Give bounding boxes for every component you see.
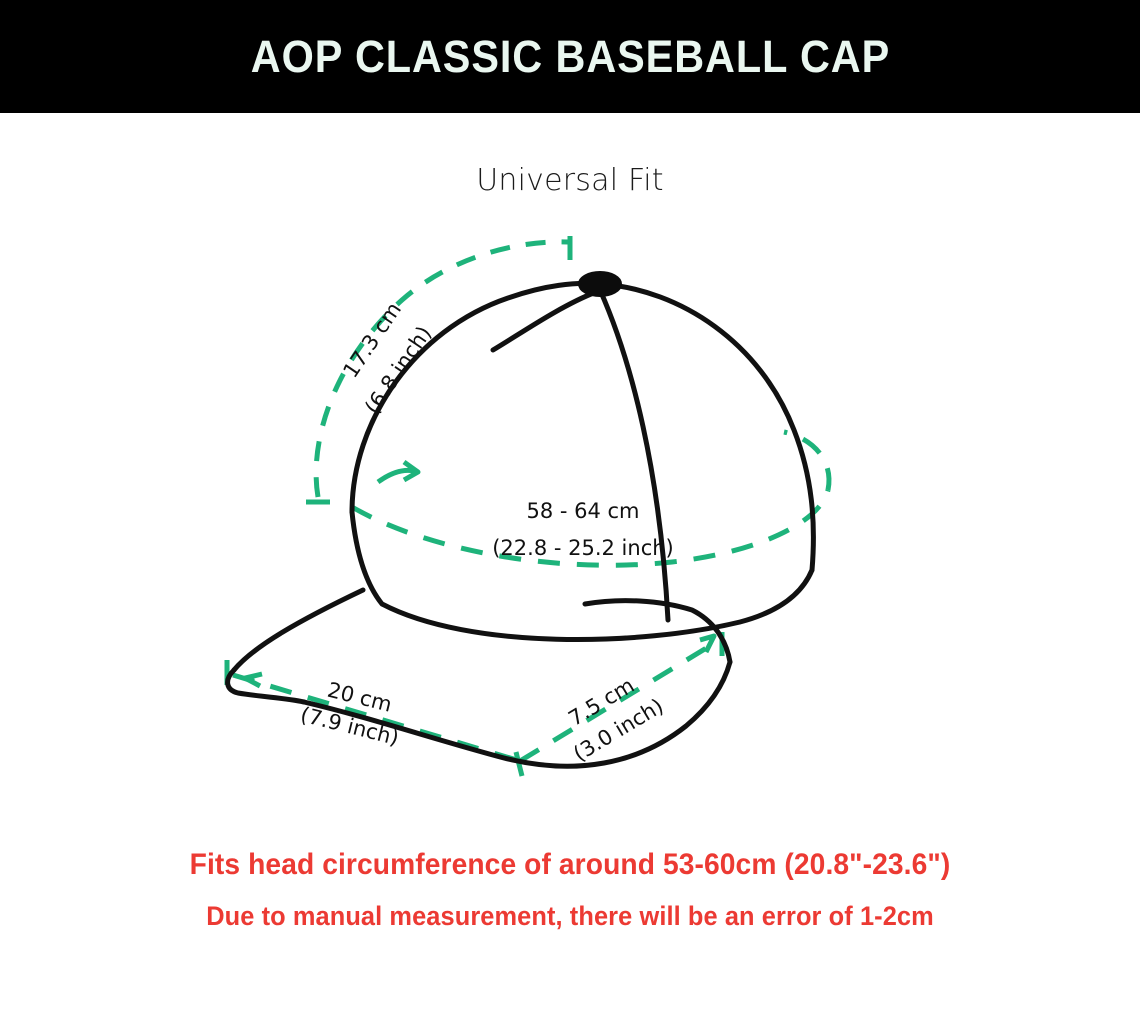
brim-top-edge (234, 590, 363, 670)
brim-length-arrow-left (245, 674, 262, 686)
crown-button-icon (580, 273, 620, 295)
cap-diagram-svg: 17.3 cm (6.8 inch) 58 - 64 cm (22.8 - 25… (0, 222, 1140, 792)
circumference-inch-label: (22.8 - 25.2 inch) (492, 536, 674, 560)
fit-subtitle: Universal Fit (0, 163, 1140, 198)
side-panel-seam (493, 292, 596, 350)
cap-diagram: 17.3 cm (6.8 inch) 58 - 64 cm (22.8 - 25… (0, 222, 1140, 792)
fit-note-secondary: Due to manual measurement, there will be… (34, 903, 1106, 930)
circumference-cm-label: 58 - 64 cm (526, 499, 639, 523)
footer-notes: Fits head circumference of around 53-60c… (0, 850, 1140, 930)
fit-note-primary: Fits head circumference of around 53-60c… (34, 850, 1106, 880)
header-bar: AOP CLASSIC BASEBALL CAP (0, 0, 1140, 113)
crown-dome-right (602, 284, 813, 570)
page-title: AOP CLASSIC BASEBALL CAP (250, 34, 889, 79)
cap-outline (228, 273, 814, 766)
front-panel-seam (600, 290, 668, 620)
size-chart-page: AOP CLASSIC BASEBALL CAP Universal Fit (0, 0, 1140, 1020)
crown-band-bottom (352, 512, 812, 640)
